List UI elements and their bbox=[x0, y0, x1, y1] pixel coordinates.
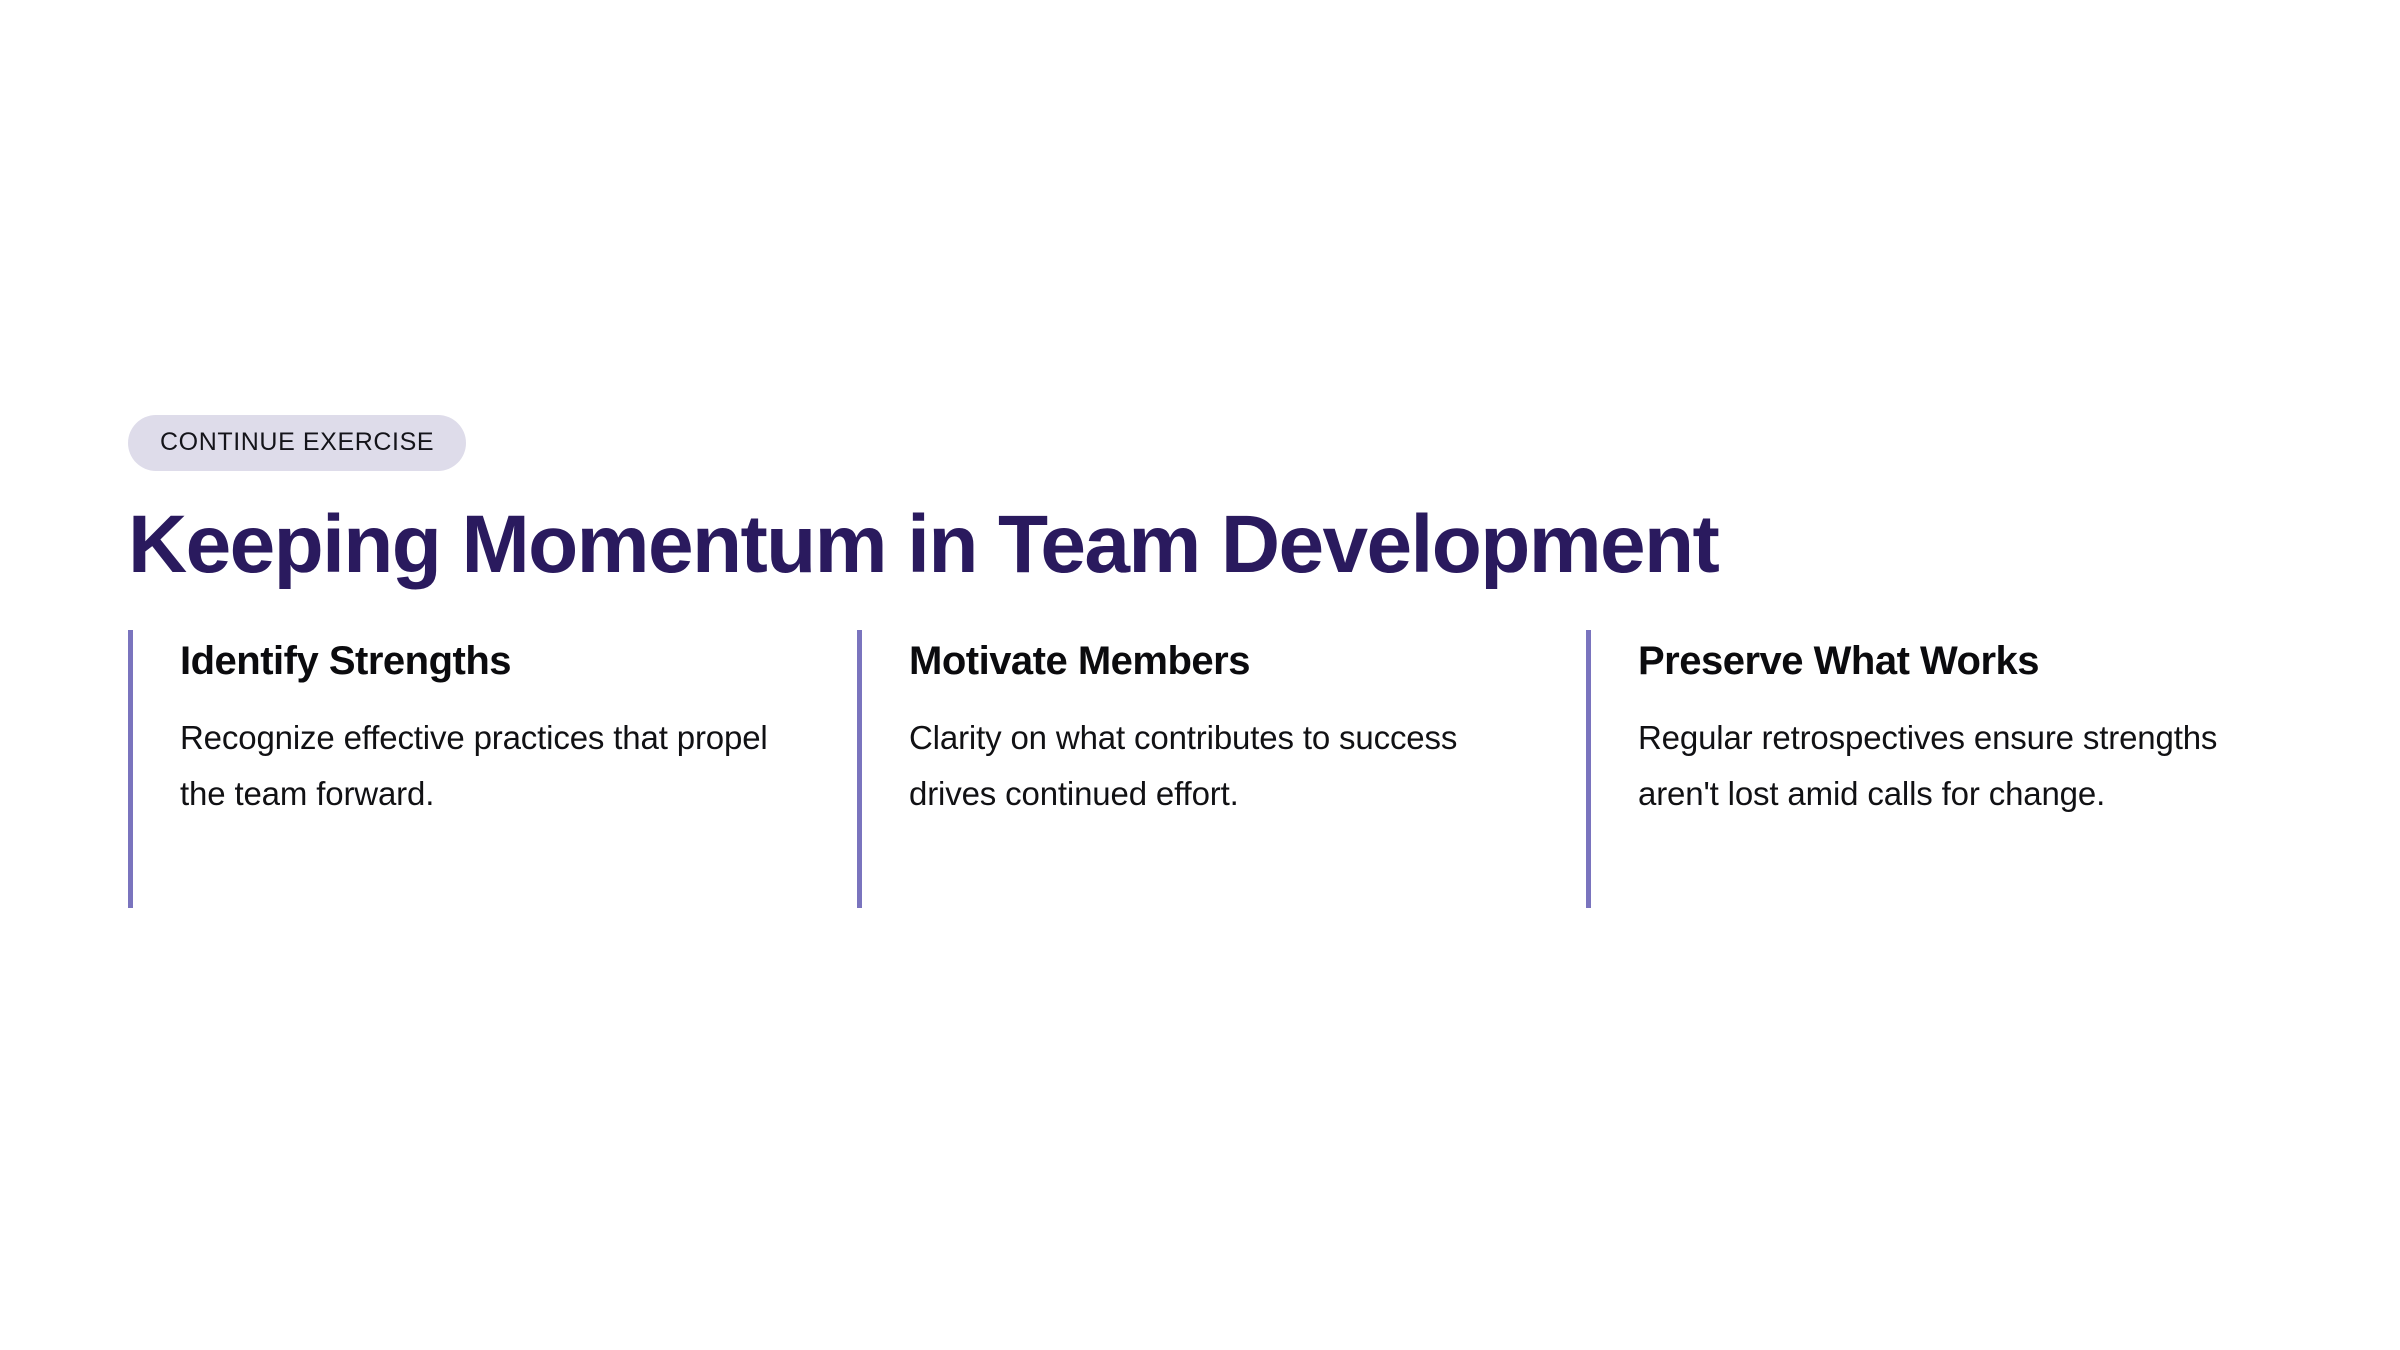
slide-canvas: CONTINUE EXERCISE Keeping Momentum in Te… bbox=[0, 0, 2400, 1350]
continue-exercise-badge[interactable]: CONTINUE EXERCISE bbox=[128, 415, 466, 471]
feature-column-preserve-what-works: Preserve What Works Regular retrospectiv… bbox=[1586, 630, 2272, 908]
feature-column-title: Identify Strengths bbox=[180, 630, 857, 684]
feature-column-motivate-members: Motivate Members Clarity on what contrib… bbox=[857, 630, 1586, 908]
feature-column-identify-strengths: Identify Strengths Recognize effective p… bbox=[128, 630, 857, 908]
feature-column-body: Clarity on what contributes to success d… bbox=[909, 710, 1479, 821]
feature-column-title: Preserve What Works bbox=[1638, 630, 2272, 684]
slide-content: CONTINUE EXERCISE Keeping Momentum in Te… bbox=[128, 415, 2272, 908]
feature-column-body: Recognize effective practices that prope… bbox=[180, 710, 780, 821]
feature-column-body: Regular retrospectives ensure strengths … bbox=[1638, 710, 2238, 821]
badge-row: CONTINUE EXERCISE bbox=[128, 415, 2272, 471]
feature-column-title: Motivate Members bbox=[909, 630, 1586, 684]
feature-columns: Identify Strengths Recognize effective p… bbox=[128, 630, 2272, 908]
page-title: Keeping Momentum in Team Development bbox=[128, 502, 2272, 588]
